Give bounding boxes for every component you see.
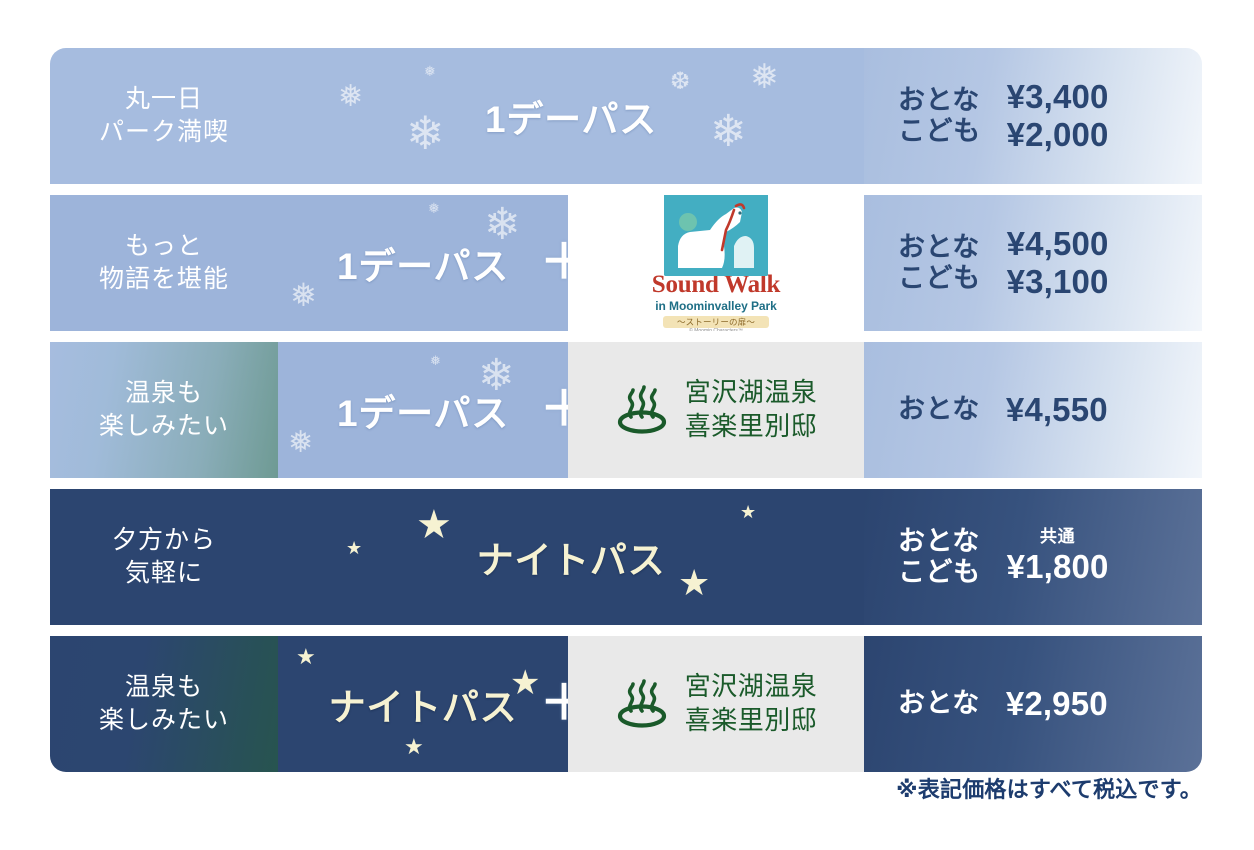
price-tag: おとな	[898, 85, 981, 116]
hot-spring-icon	[615, 675, 669, 734]
common-price-label: 共通	[1040, 528, 1075, 545]
snowflake-icon: ❅	[750, 60, 779, 94]
addon-cell: 宮沢湖温泉 喜楽里別邸	[568, 342, 864, 478]
price-value: ¥3,400	[1007, 78, 1109, 116]
row-label-line2: 気軽に	[112, 557, 216, 590]
tax-note: ※表記価格はすべて税込です。	[896, 772, 1202, 804]
pass-name: ナイトパス	[329, 677, 518, 731]
price-cell: おとな こども ¥4,500 ¥3,100	[864, 195, 1202, 331]
row-label-line2: 楽しみたい	[99, 704, 229, 737]
pricing-table-sheet: 丸一日 パーク満喫 ❅ ❅ ❄ ❆ ❅ ❄ 1デーパス おとな こども	[0, 0, 1254, 850]
price-tag: こども	[898, 557, 981, 588]
star-icon: ★	[416, 505, 452, 545]
table-row[interactable]: 温泉も 楽しみたい ❅ ❅ ❄ 1デーパス ＋	[50, 342, 1202, 478]
snowflake-icon: ❅	[430, 354, 441, 367]
snowflake-icon: ❅	[424, 64, 436, 78]
price-cell: おとな ¥2,950	[864, 636, 1202, 772]
addon-cell: Sound Walk in Moominvalley Park 〜ストーリーの扉…	[568, 195, 864, 331]
sound-walk-illustration	[664, 195, 768, 276]
hot-spring-icon	[615, 381, 669, 440]
snowflake-icon: ❆	[670, 70, 690, 94]
row-label-cell: 夕方から 気軽に	[50, 489, 278, 625]
plus-icon: ＋	[540, 680, 568, 728]
price-value: ¥4,500	[1007, 225, 1109, 263]
price-value: ¥2,000	[1007, 116, 1109, 154]
addon-cell: 宮沢湖温泉 喜楽里別邸	[568, 636, 864, 772]
sound-walk-subtitle: in Moominvalley Park	[655, 300, 777, 312]
price-value: ¥4,550	[1006, 391, 1108, 429]
table-row[interactable]: もっと 物語を堪能 ❅ ❅ ❄ 1デーパス ＋	[50, 195, 1202, 331]
onsen-line2: 喜楽里別邸	[685, 411, 818, 441]
table-row[interactable]: 夕方から 気軽に ★ ★ ★ ★ ナイトパス おとな こども 共通	[50, 489, 1202, 625]
price-tag: おとな	[898, 232, 981, 263]
row-label-line1: もっと	[99, 230, 229, 263]
price-cell: おとな こども ¥3,400 ¥2,000	[864, 48, 1202, 184]
price-value: ¥1,800	[1007, 548, 1109, 586]
row-label-cell: もっと 物語を堪能	[50, 195, 278, 331]
pass-name: 1デーパス	[337, 383, 509, 437]
price-tag: こども	[898, 263, 981, 294]
row-label-cell: 温泉も 楽しみたい	[50, 342, 278, 478]
row-label-line1: 温泉も	[99, 377, 229, 410]
price-value: ¥3,100	[1007, 263, 1109, 301]
pass-cell: ★ ★ ★ ナイトパス ＋	[278, 636, 568, 772]
pass-cell: ★ ★ ★ ★ ナイトパス	[278, 489, 864, 625]
row-label-line1: 丸一日	[99, 83, 229, 116]
pricing-table: 丸一日 パーク満喫 ❅ ❅ ❄ ❆ ❅ ❄ 1デーパス おとな こども	[50, 48, 1202, 772]
pass-name: 1デーパス	[485, 89, 657, 143]
star-icon: ★	[296, 646, 316, 668]
snowflake-icon: ❅	[428, 201, 440, 215]
pass-name: 1デーパス	[337, 236, 509, 290]
horse-illustration-icon	[664, 195, 768, 276]
price-cell: おとな こども 共通 ¥1,800	[864, 489, 1202, 625]
pass-cell: ❅ ❅ ❄ 1デーパス ＋	[278, 195, 568, 331]
price-tag: こども	[898, 116, 981, 147]
price-tag: おとな	[898, 688, 980, 719]
price-tag: おとな	[898, 526, 981, 557]
plus-icon: ＋	[540, 386, 568, 434]
sound-walk-copyright: © Moomin Characters™	[689, 329, 743, 331]
row-label-line1: 夕方から	[112, 524, 216, 557]
pass-cell: ❅ ❅ ❄ ❆ ❅ ❄ 1デーパス	[278, 48, 864, 184]
onsen-label: 宮沢湖温泉 喜楽里別邸	[685, 670, 818, 738]
plus-icon: ＋	[540, 239, 568, 287]
row-label-line2: 物語を堪能	[99, 263, 229, 296]
price-value: ¥2,950	[1006, 685, 1108, 723]
onsen-label: 宮沢湖温泉 喜楽里別邸	[685, 376, 818, 444]
sound-walk-logo: Sound Walk in Moominvalley Park 〜ストーリーの扉…	[652, 195, 780, 331]
snowflake-icon: ❄	[406, 110, 445, 156]
pass-cell: ❅ ❅ ❄ 1デーパス ＋	[278, 342, 568, 478]
price-tag: おとな	[898, 394, 980, 425]
snowflake-icon: ❄	[710, 110, 747, 154]
onsen-line1: 宮沢湖温泉	[685, 377, 818, 407]
snowflake-icon: ❅	[338, 82, 363, 112]
price-cell: おとな ¥4,550	[864, 342, 1202, 478]
star-icon: ★	[678, 565, 710, 601]
row-label-cell: 温泉も 楽しみたい	[50, 636, 278, 772]
table-row[interactable]: 丸一日 パーク満喫 ❅ ❅ ❄ ❆ ❅ ❄ 1デーパス おとな こども	[50, 48, 1202, 184]
snowflake-icon: ❅	[288, 428, 313, 458]
table-row[interactable]: 温泉も 楽しみたい ★ ★ ★ ナイトパス ＋	[50, 636, 1202, 772]
snowflake-icon: ❅	[290, 279, 317, 311]
onsen-block: 宮沢湖温泉 喜楽里別邸	[615, 376, 818, 444]
row-label-line2: 楽しみたい	[99, 410, 229, 443]
star-icon: ★	[740, 503, 756, 521]
star-icon: ★	[404, 736, 424, 758]
star-icon: ★	[346, 539, 362, 557]
onsen-line1: 宮沢湖温泉	[685, 671, 818, 701]
row-label-line2: パーク満喫	[99, 116, 229, 149]
onsen-block: 宮沢湖温泉 喜楽里別邸	[615, 670, 818, 738]
onsen-line2: 喜楽里別邸	[685, 705, 818, 735]
row-label-cell: 丸一日 パーク満喫	[50, 48, 278, 184]
sound-walk-ribbon: 〜ストーリーの扉〜	[663, 316, 769, 328]
pass-name: ナイトパス	[477, 530, 666, 584]
row-label-line1: 温泉も	[99, 671, 229, 704]
